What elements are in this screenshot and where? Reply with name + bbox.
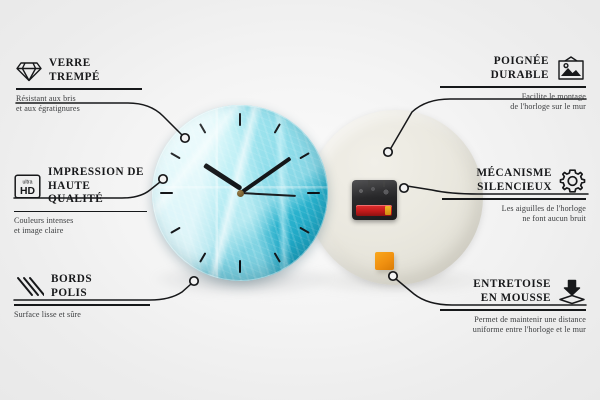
- callout-rule: [16, 88, 142, 89]
- polished-edges-icon: [14, 275, 44, 299]
- quartz-movement: [352, 180, 397, 220]
- svg-text:HD: HD: [20, 186, 36, 197]
- callout-description: Résistant aux bris et aux égratignures: [16, 94, 142, 114]
- callout-mecanisme-silencieux: MÉCANISME SILENCIEUX Les aiguilles de l'…: [442, 167, 586, 224]
- callout-rule: [14, 211, 147, 212]
- callout-title: IMPRESSION DE HAUTE QUALITÉ: [48, 166, 147, 207]
- foam-spacer-icon: [558, 279, 586, 305]
- callout-title: MÉCANISME SILENCIEUX: [476, 167, 552, 194]
- callout-header: POIGNÉE DURABLE: [440, 55, 586, 82]
- callout-title: ENTRETOISE EN MOUSSE: [473, 278, 551, 305]
- infographic-canvas: VERRE TREMPÉ Résistant aux bris et aux é…: [0, 0, 600, 400]
- callout-title: BORDS POLIS: [51, 273, 92, 300]
- callout-poignee-durable: POIGNÉE DURABLE Facilite le montage de l…: [440, 55, 586, 112]
- picture-hanger-icon: [556, 56, 586, 82]
- callout-title: VERRE TREMPÉ: [49, 57, 100, 84]
- callout-entretoise-en-mousse: ENTRETOISE EN MOUSSE Permet de maintenir…: [440, 278, 586, 335]
- callout-header: MÉCANISME SILENCIEUX: [442, 167, 586, 194]
- callout-rule: [440, 309, 586, 310]
- callout-description: Surface lisse et sûre: [14, 310, 150, 320]
- movement-gloss: [352, 180, 397, 198]
- foam-spacer: [375, 252, 394, 270]
- callout-header: ultra HD IMPRESSION DE HAUTE QUALITÉ: [14, 166, 147, 207]
- callout-description: Les aiguilles de l'horloge ne font aucun…: [442, 204, 586, 224]
- svg-text:ultra: ultra: [22, 179, 32, 185]
- callout-header: BORDS POLIS: [14, 273, 150, 300]
- callout-rule: [14, 304, 150, 305]
- callout-header: ENTRETOISE EN MOUSSE: [440, 278, 586, 305]
- callout-rule: [442, 198, 586, 199]
- ultra-hd-icon: ultra HD: [14, 174, 41, 199]
- callout-header: VERRE TREMPÉ: [16, 57, 142, 84]
- callout-rule: [440, 86, 586, 87]
- callout-impression-haute-qualite: ultra HD IMPRESSION DE HAUTE QUALITÉ Cou…: [14, 166, 147, 237]
- callout-title: POIGNÉE DURABLE: [491, 55, 549, 82]
- gear-icon: [559, 168, 586, 194]
- diamond-icon: [16, 59, 42, 83]
- callout-verre-trempe: VERRE TREMPÉ Résistant aux bris et aux é…: [16, 57, 142, 114]
- callout-description: Permet de maintenir une distance uniform…: [440, 315, 586, 335]
- clock-glass-gloss: [152, 105, 328, 281]
- movement-battery: [356, 205, 392, 216]
- callout-description: Facilite le montage de l'horloge sur le …: [440, 92, 586, 112]
- callout-description: Couleurs intenses et image claire: [14, 216, 147, 236]
- clock-face: [152, 105, 328, 281]
- callout-bords-polis: BORDS POLIS Surface lisse et sûre: [14, 273, 150, 320]
